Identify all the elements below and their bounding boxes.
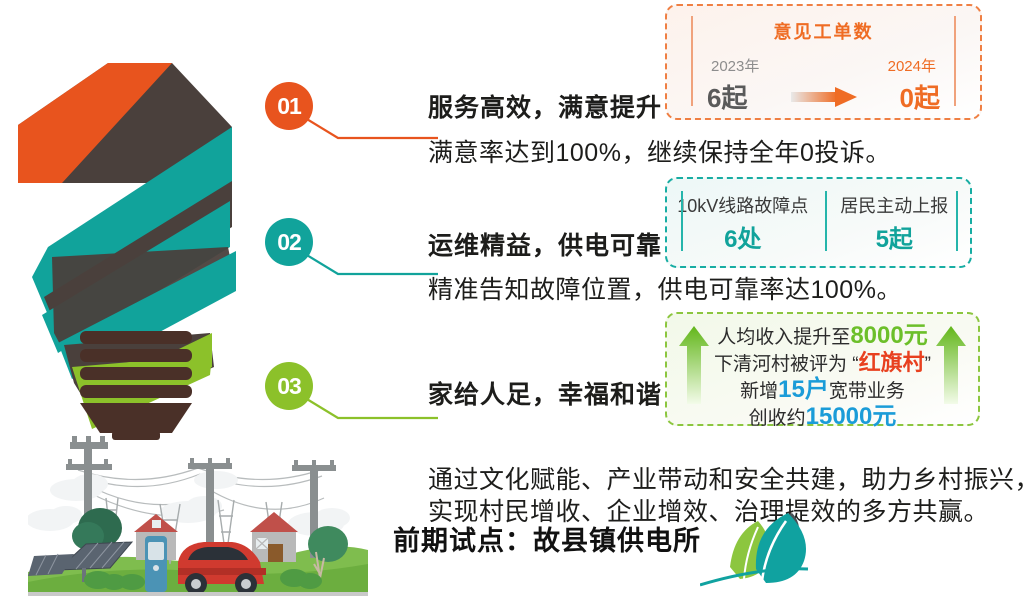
card3-line-2-suffix: ” <box>925 354 931 375</box>
section-badge-02[interactable]: 02 <box>265 218 313 266</box>
rural-power-scene-icon <box>28 432 368 596</box>
card2-cell-1: 居民主动上报 5起 <box>819 192 971 254</box>
fact-card-complaints: 意见工单数 2023年 2024年 6起 0起 <box>665 4 982 120</box>
fact-card-reliability: 10kV线路故障点 6处 居民主动上报 5起 <box>665 177 972 268</box>
card1-left-value: 6起 <box>707 78 747 115</box>
card1-right-year: 2024年 <box>888 55 936 76</box>
card2-cells: 10kV线路故障点 6处 居民主动上报 5起 <box>667 179 970 266</box>
card2-cell-0-value: 6处 <box>667 219 819 254</box>
card3-line-2-highlight: 红旗村 <box>859 350 925 375</box>
section-badge-01[interactable]: 01 <box>265 82 313 130</box>
card1-right-value: 0起 <box>900 78 940 115</box>
lightbulb-ribbon-icon <box>0 15 270 455</box>
card2-left-rule <box>681 191 683 251</box>
card2-cell-1-label: 居民主动上报 <box>819 192 971 218</box>
card2-cell-1-value: 5起 <box>819 219 971 254</box>
arrow-up-right-icon <box>936 326 966 404</box>
card1-right-rule <box>954 16 956 106</box>
footer-pilot-text: 前期试点：故县镇供电所 <box>393 519 701 558</box>
card3-line-3-text: 新增 <box>740 381 778 402</box>
card3-line-1: 人均收入提升至8000元 <box>705 323 940 350</box>
card3-line-4-text: 创收约 <box>749 408 806 429</box>
fact-card-prosperity: 人均收入提升至8000元 下清河村被评为 “红旗村” 新增15户宽带业务 创收约… <box>665 312 980 426</box>
arrow-right-icon <box>791 87 857 107</box>
card1-year-row: 2023年 2024年 <box>667 55 980 76</box>
leaf-logo-icon <box>700 495 900 595</box>
card3-line-3: 新增15户宽带业务 <box>705 377 940 404</box>
card1-left-rule <box>691 16 693 106</box>
infographic-stage: 01 02 03 服务高效，满意提升 满意率达到100%，继续保持全年0投诉。 … <box>0 0 1026 596</box>
card3-line-3-highlight: 15户 <box>778 376 829 403</box>
card2-right-rule <box>956 191 958 251</box>
card3-line-4-highlight: 15000元 <box>806 403 897 430</box>
section-badge-03[interactable]: 03 <box>265 362 313 410</box>
section-body-02: 精准告知故障位置，供电可靠率达100%。 <box>428 270 902 306</box>
card2-cell-0: 10kV线路故障点 6处 <box>667 192 819 254</box>
card3-line-2: 下清河村被评为 “红旗村” <box>705 350 940 377</box>
section-headline-02: 运维精益，供电可靠 <box>428 226 662 262</box>
section-body-03-line1: 通过文化赋能、产业带动和安全共建，助力乡村振兴， <box>428 460 1026 496</box>
card3-lines: 人均收入提升至8000元 下清河村被评为 “红旗村” 新增15户宽带业务 创收约… <box>705 323 940 431</box>
card3-line-1-highlight: 8000元 <box>850 322 927 349</box>
card1-title: 意见工单数 <box>667 18 980 44</box>
card3-line-3-suffix: 宽带业务 <box>829 381 905 402</box>
section-headline-01: 服务高效，满意提升 <box>428 88 662 124</box>
card1-value-row: 6起 0起 <box>667 78 980 115</box>
card3-line-4: 创收约15000元 <box>705 404 940 431</box>
card3-line-2-text: 下清河村被评为 “ <box>714 354 859 375</box>
card3-line-1-text: 人均收入提升至 <box>717 327 850 348</box>
card2-cell-0-label: 10kV线路故障点 <box>667 192 819 218</box>
card2-mid-rule <box>825 191 827 251</box>
section-body-01: 满意率达到100%，继续保持全年0投诉。 <box>428 133 891 169</box>
card1-left-year: 2023年 <box>711 55 759 76</box>
section-headline-03: 家给人足，幸福和谐 <box>428 375 662 411</box>
